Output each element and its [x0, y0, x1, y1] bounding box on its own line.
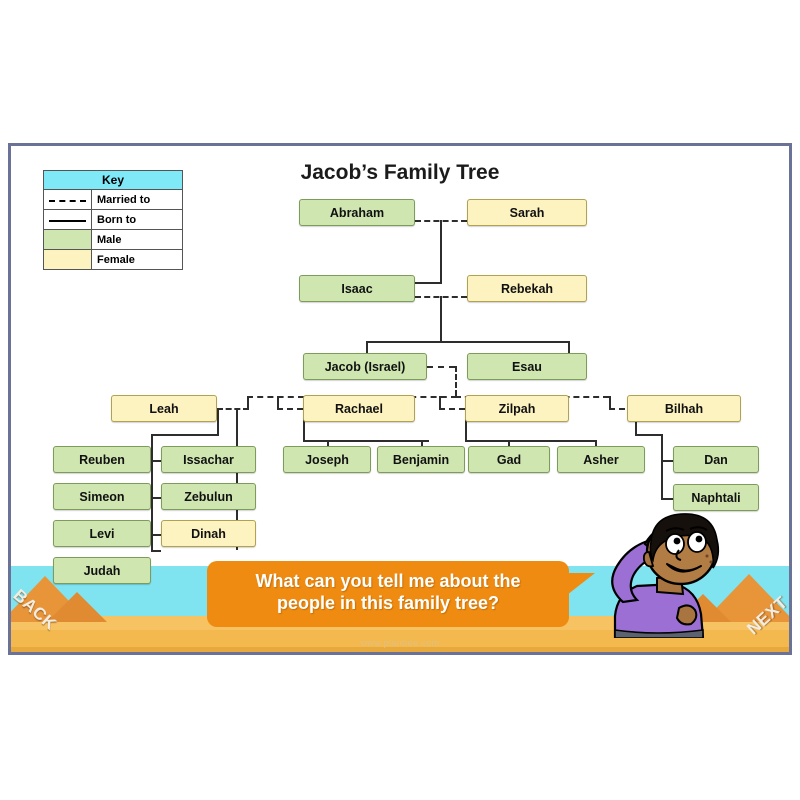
legend-key: Key Married to Born to Male Female [43, 170, 183, 270]
person-node-rebekah[interactable]: Rebekah [467, 275, 587, 302]
marriage-line-jacob-out [427, 366, 455, 368]
marriage-bus-v [455, 366, 457, 396]
marriage-drop-leah [247, 396, 249, 408]
marriage-drop-zilpah [439, 396, 441, 408]
lesson-slide: BACK NEXT www.planbee.com Jacob’s Family… [8, 143, 792, 655]
male-swatch-icon [44, 230, 92, 249]
person-node-abraham[interactable]: Abraham [299, 199, 415, 226]
marriage-drop-bilhah [609, 396, 611, 408]
marriage-drop-rachael [277, 396, 279, 408]
sibling-bar-jacob-esau [366, 341, 570, 343]
person-node-gad[interactable]: Gad [468, 446, 550, 473]
person-node-issachar[interactable]: Issachar [161, 446, 256, 473]
person-node-zebulun[interactable]: Zebulun [161, 483, 256, 510]
female-swatch-icon [44, 250, 92, 269]
bilhah-bus-h [635, 434, 661, 436]
dashed-line-icon [44, 190, 92, 209]
person-node-sarah[interactable]: Sarah [467, 199, 587, 226]
person-node-dinah[interactable]: Dinah [161, 520, 256, 547]
person-node-asher[interactable]: Asher [557, 446, 645, 473]
person-node-levi[interactable]: Levi [53, 520, 151, 547]
descent-line-jacob-esau [440, 296, 442, 343]
speech-bubble: What can you tell me about the people in… [207, 561, 569, 627]
prompt-line-1: What can you tell me about the [221, 571, 555, 593]
watermark: www.planbee.com [11, 638, 789, 648]
marriage-link-zilpah [439, 408, 465, 410]
next-button-label: NEXT [743, 593, 792, 640]
child-tick-simeon [151, 497, 161, 499]
legend-row-female: Female [44, 250, 182, 269]
person-node-isaac[interactable]: Isaac [299, 275, 415, 302]
legend-label: Married to [92, 190, 182, 209]
person-node-jacob[interactable]: Jacob (Israel) [303, 353, 427, 380]
legend-row-married: Married to [44, 190, 182, 210]
child-tick-reuben [151, 460, 161, 462]
legend-row-male: Male [44, 230, 182, 250]
leah-left-bus [151, 434, 153, 550]
leah-bus-h [151, 434, 219, 436]
person-node-benjamin[interactable]: Benjamin [377, 446, 465, 473]
screenshot-canvas: BACK NEXT www.planbee.com Jacob’s Family… [0, 0, 800, 800]
person-node-bilhah[interactable]: Bilhah [627, 395, 741, 422]
back-button-label: BACK [9, 585, 60, 634]
descent-line-jacob [366, 341, 368, 353]
thinking-boy-illustration [571, 498, 739, 638]
rachael-bus-h [303, 440, 429, 442]
person-node-judah[interactable]: Judah [53, 557, 151, 584]
speech-bubble-tail [567, 573, 595, 595]
marriage-link-leah [217, 408, 249, 410]
bilhah-right-bus [661, 434, 663, 500]
person-node-esau[interactable]: Esau [467, 353, 587, 380]
person-node-dan[interactable]: Dan [673, 446, 759, 473]
legend-label: Male [92, 230, 182, 249]
zilpah-bus-h [465, 440, 595, 442]
leah-bus-v [217, 408, 219, 436]
child-tick-levi [151, 534, 161, 536]
person-node-simeon[interactable]: Simeon [53, 483, 151, 510]
person-node-leah[interactable]: Leah [111, 395, 217, 422]
marriage-link-rachael [277, 408, 303, 410]
child-tick-judah [151, 550, 161, 552]
legend-label: Born to [92, 210, 182, 229]
person-node-reuben[interactable]: Reuben [53, 446, 151, 473]
person-node-rachael[interactable]: Rachael [303, 395, 415, 422]
descent-line-esau [568, 341, 570, 353]
prompt-line-2: people in this family tree? [221, 593, 555, 615]
solid-line-icon [44, 210, 92, 229]
person-node-zilpah[interactable]: Zilpah [465, 395, 569, 422]
legend-heading: Key [44, 171, 182, 190]
legend-row-born: Born to [44, 210, 182, 230]
person-node-joseph[interactable]: Joseph [283, 446, 371, 473]
descent-line-isaac [440, 220, 442, 284]
legend-label: Female [92, 250, 182, 269]
child-tick-dan [661, 460, 673, 462]
